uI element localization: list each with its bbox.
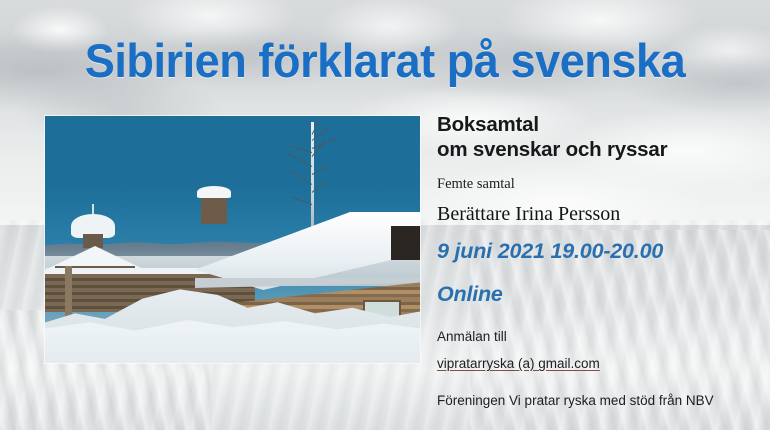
photo-cabin-chimney bbox=[201, 194, 227, 224]
headline-line-1: Boksamtal bbox=[437, 112, 762, 137]
photo-chapel-neck bbox=[83, 234, 103, 248]
speaker-name: Berättare Irina Persson bbox=[437, 202, 762, 226]
headline-line-2: om svenskar och ryssar bbox=[437, 137, 762, 162]
event-date-time: 9 juni 2021 19.00-20.00 bbox=[437, 238, 762, 264]
organizer-credit: Föreningen Vi pratar ryska med stöd från… bbox=[437, 392, 762, 409]
registration-label: Anmälan till bbox=[437, 328, 762, 345]
registration-email-link[interactable]: vipratarryska (a) gmail.com bbox=[437, 355, 762, 372]
photo-cabin-opening bbox=[391, 226, 420, 260]
photo-fence-post bbox=[65, 266, 72, 318]
photo-cabin-chimney-snow bbox=[197, 186, 231, 198]
siberia-photo bbox=[45, 116, 420, 363]
poster-canvas: Sibirien förklarat på svenska bbox=[0, 0, 770, 430]
poster-title: Sibirien förklarat på svenska bbox=[15, 34, 754, 88]
photo-chapel-roof bbox=[49, 246, 141, 268]
event-location: Online bbox=[437, 281, 762, 307]
session-label: Femte samtal bbox=[437, 175, 762, 193]
info-column: Boksamtal om svenskar och ryssar Femte s… bbox=[437, 112, 762, 409]
